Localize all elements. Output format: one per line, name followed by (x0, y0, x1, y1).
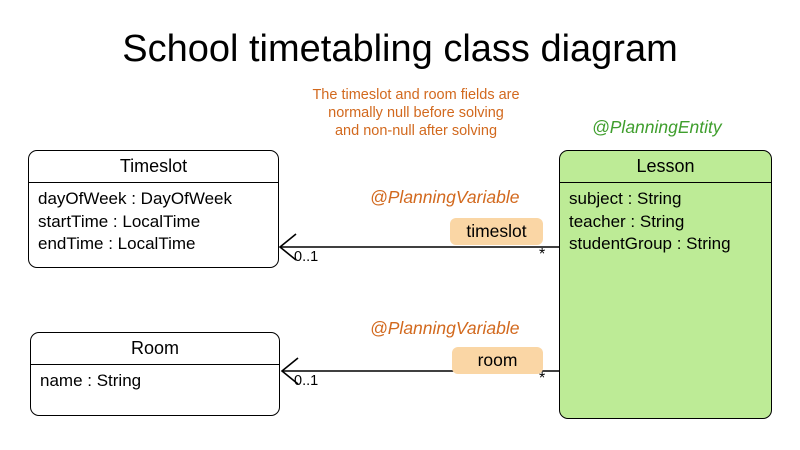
class-attributes-room: name : String (31, 365, 279, 393)
attribute-row: subject : String (569, 188, 771, 211)
multiplicity-room-target: 0..1 (294, 373, 318, 389)
class-name-timeslot: Timeslot (29, 151, 278, 183)
class-name-room: Room (31, 333, 279, 365)
stereotype-planning-entity: @PlanningEntity (592, 117, 722, 138)
attribute-row: endTime : LocalTime (38, 233, 278, 256)
class-box-timeslot[interactable]: Timeslot dayOfWeek : DayOfWeek startTime… (28, 150, 279, 268)
multiplicity-timeslot-target: 0..1 (294, 249, 318, 265)
multiplicity-room-source: * (539, 370, 545, 388)
class-attributes-timeslot: dayOfWeek : DayOfWeek startTime : LocalT… (29, 183, 278, 256)
attribute-row: teacher : String (569, 211, 771, 234)
class-diagram-canvas: School timetabling class diagram The tim… (0, 0, 800, 450)
stereotype-planning-variable-room: @PlanningVariable (370, 318, 519, 339)
class-attributes-lesson: subject : String teacher : String studen… (560, 183, 771, 256)
class-box-room[interactable]: Room name : String (30, 332, 280, 416)
class-name-lesson: Lesson (560, 151, 771, 183)
attribute-row: name : String (40, 370, 279, 393)
attribute-row: dayOfWeek : DayOfWeek (38, 188, 278, 211)
stereotype-planning-variable-timeslot: @PlanningVariable (370, 187, 519, 208)
multiplicity-timeslot-source: * (539, 246, 545, 264)
explanatory-note: The timeslot and room fields are normall… (280, 86, 552, 140)
attribute-row: studentGroup : String (569, 233, 771, 256)
field-badge-room[interactable]: room (452, 347, 543, 374)
note-line-2: normally null before solving (280, 104, 552, 122)
note-line-1: The timeslot and room fields are (280, 86, 552, 104)
note-line-3: and non-null after solving (280, 122, 552, 140)
class-box-lesson[interactable]: Lesson subject : String teacher : String… (559, 150, 772, 419)
field-badge-timeslot[interactable]: timeslot (450, 218, 543, 245)
page-title: School timetabling class diagram (0, 28, 800, 71)
attribute-row: startTime : LocalTime (38, 211, 278, 234)
